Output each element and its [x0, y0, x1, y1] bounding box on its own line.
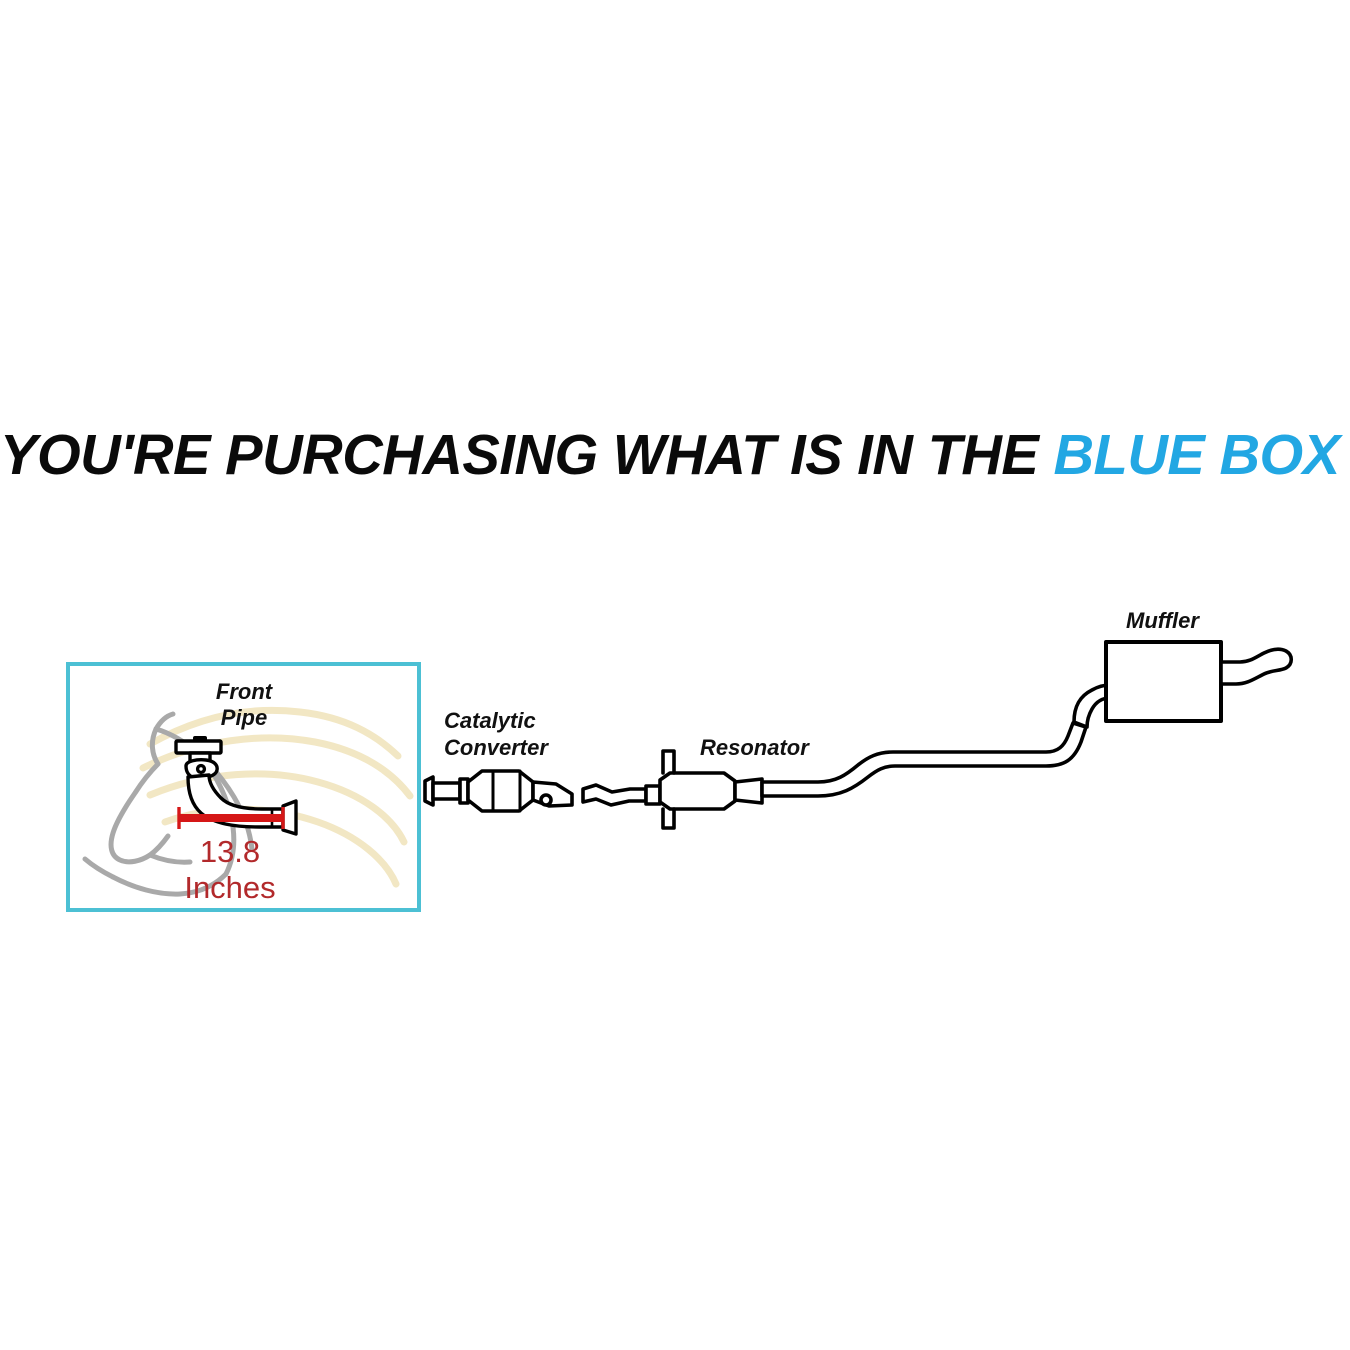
- label-catalytic-converter: Catalytic Converter: [444, 707, 574, 761]
- cat-outlet-cone: [533, 782, 572, 806]
- resonator-inlet-collar: [646, 786, 660, 804]
- page-title: YOU'RE PURCHASING WHAT IS IN THE BLUE BO…: [0, 424, 1330, 486]
- measurement-value: 13.8: [160, 835, 300, 869]
- diagram-canvas: YOU'RE PURCHASING WHAT IS IN THE BLUE BO…: [0, 0, 1350, 1350]
- resonator-hanger-top: [663, 751, 674, 773]
- label-front-pipe: Front Pipe: [196, 679, 292, 731]
- intermediate-pipe-front: [583, 785, 646, 805]
- center-pipe: [762, 723, 1086, 796]
- measurement-unit: Inches: [160, 871, 300, 905]
- cat-body: [468, 771, 533, 811]
- cat-inlet-collar: [460, 779, 468, 803]
- muffler-inlet-pipe: [1074, 685, 1110, 727]
- headline-text-black: YOU'RE PURCHASING WHAT IS IN THE: [0, 423, 1054, 487]
- muffler-body: [1106, 642, 1221, 721]
- cat-inlet-flare: [425, 777, 433, 805]
- tailpipe: [1221, 649, 1291, 684]
- resonator-hanger-bottom: [663, 809, 674, 828]
- cat-inlet-pipe: [433, 783, 460, 799]
- headline-text-blue: BLUE BOX: [1054, 423, 1340, 487]
- resonator-outlet: [735, 779, 762, 803]
- label-muffler: Muffler: [1126, 608, 1199, 634]
- label-resonator: Resonator: [700, 735, 809, 761]
- resonator-body: [660, 773, 735, 809]
- cat-hanger-ring: [541, 795, 551, 805]
